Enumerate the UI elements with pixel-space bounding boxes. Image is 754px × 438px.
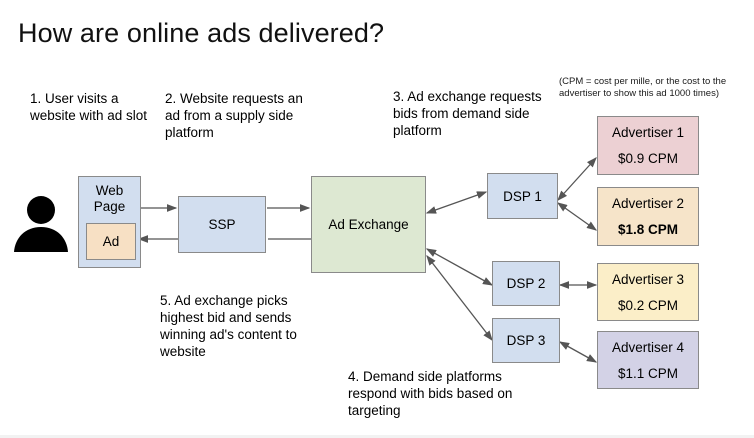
advertiser-1-name: Advertiser 1 bbox=[612, 124, 684, 141]
advertiser-4-cpm: $1.1 CPM bbox=[618, 365, 678, 382]
advertiser-3-cpm: $0.2 CPM bbox=[618, 297, 678, 314]
ad-exchange-box[interactable]: Ad Exchange bbox=[311, 176, 426, 273]
advertiser-3-box[interactable]: Advertiser 3 $0.2 CPM bbox=[597, 263, 699, 321]
advertiser-3-name: Advertiser 3 bbox=[612, 271, 684, 288]
step-note-2: 2. Website requests an ad from a supply … bbox=[165, 90, 310, 141]
advertiser-1-cpm: $0.9 CPM bbox=[618, 150, 678, 167]
advertiser-2-cpm-winning: $1.8 CPM bbox=[618, 221, 678, 238]
web-page-box[interactable]: Web Page Ad bbox=[78, 176, 141, 268]
step-note-1: 1. User visits a website with ad slot bbox=[30, 90, 155, 124]
dsp-3-box[interactable]: DSP 3 bbox=[492, 318, 560, 363]
cpm-definition-note: (CPM = cost per mille, or the cost to th… bbox=[559, 76, 749, 100]
ad-exchange-label: Ad Exchange bbox=[328, 216, 408, 233]
dsp-2-label: DSP 2 bbox=[507, 275, 546, 292]
advertiser-2-name: Advertiser 2 bbox=[612, 195, 684, 212]
advertiser-4-box[interactable]: Advertiser 4 $1.1 CPM bbox=[597, 331, 699, 389]
dsp-1-label: DSP 1 bbox=[503, 188, 542, 205]
dsp-3-label: DSP 3 bbox=[507, 332, 546, 349]
step-note-5: 5. Ad exchange picks highest bid and sen… bbox=[160, 292, 310, 360]
slide-canvas: How are online ads delivered? 1. User vi… bbox=[0, 0, 754, 438]
ad-slot-label: Ad bbox=[103, 233, 120, 250]
ad-slot-box[interactable]: Ad bbox=[86, 223, 136, 260]
ssp-box[interactable]: SSP bbox=[178, 196, 266, 253]
step-note-3: 3. Ad exchange requests bids from demand… bbox=[393, 88, 558, 139]
page-title: How are online ads delivered? bbox=[18, 18, 384, 49]
advertiser-1-box[interactable]: Advertiser 1 $0.9 CPM bbox=[597, 116, 699, 175]
dsp-2-box[interactable]: DSP 2 bbox=[492, 261, 560, 306]
dsp-1-box[interactable]: DSP 1 bbox=[487, 173, 558, 219]
step-note-4: 4. Demand side platforms respond with bi… bbox=[348, 368, 543, 419]
ssp-label: SSP bbox=[208, 216, 235, 233]
web-page-label: Web Page bbox=[79, 183, 140, 215]
advertiser-4-name: Advertiser 4 bbox=[612, 339, 684, 356]
advertiser-2-box[interactable]: Advertiser 2 $1.8 CPM bbox=[597, 187, 699, 246]
user-person-icon bbox=[12, 194, 70, 254]
